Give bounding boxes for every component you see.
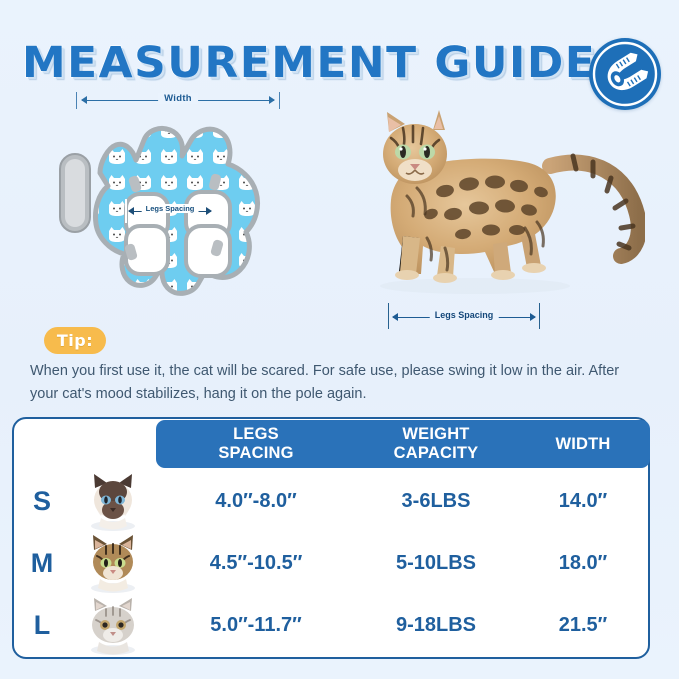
column-header-legs-spacing-line1: LEGS xyxy=(156,425,356,444)
page-title: MEASUREMENT GUIDE xyxy=(22,38,596,88)
legs-spacing-value: 4.5″-10.5″ xyxy=(156,552,356,575)
bengal-cat-photo xyxy=(345,96,645,311)
width-label: Width xyxy=(158,93,198,104)
tip-text: When you first use it, the cat will be s… xyxy=(30,360,630,406)
tabby-cat-head-thumbnail xyxy=(70,532,156,594)
width-arrow-right-icon xyxy=(269,96,275,104)
cat-legs-spacing-measure: Legs Spacing xyxy=(388,308,540,326)
siamese-cat-head-thumbnail xyxy=(70,470,156,532)
cat-legs-spacing-label: Legs Spacing xyxy=(430,310,499,320)
weight-capacity-value: 3-6LBS xyxy=(356,490,516,513)
width-measure-line: Width xyxy=(76,92,280,110)
size-label: M xyxy=(14,548,70,579)
width-cap-right xyxy=(279,92,280,109)
width-value: 18.0″ xyxy=(516,552,650,575)
wrap-legs-arrow-left-icon xyxy=(128,207,134,215)
column-header-width: WIDTH xyxy=(516,435,650,454)
width-value: 21.5″ xyxy=(516,614,650,637)
page-header: MEASUREMENT GUIDE xyxy=(0,18,679,90)
cat-legs-arrow-right-icon xyxy=(530,313,536,321)
wrap-legs-spacing-measure: Legs Spacing xyxy=(125,203,215,219)
tip-badge-label: Tip: xyxy=(57,331,93,350)
column-header-weight-capacity: WEIGHT CAPACITY xyxy=(356,425,516,463)
table-row: M 4.5″-10.5″ xyxy=(14,532,650,594)
weight-capacity-value: 5-10LBS xyxy=(356,552,516,575)
size-table-header: LEGS SPACING WEIGHT CAPACITY WIDTH xyxy=(156,420,650,468)
column-header-legs-spacing-line2: SPACING xyxy=(156,444,356,463)
table-row: L 5.0″-11.7″ xyxy=(14,594,650,656)
size-table-body: S 4.0″-8.0″ 3-6LBS 14.0″ M xyxy=(14,470,650,656)
width-value: 14.0″ xyxy=(516,490,650,513)
wrap-legs-arrow-right-icon xyxy=(206,207,212,215)
legs-spacing-value: 5.0″-11.7″ xyxy=(156,614,356,637)
column-header-weight-capacity-line2: CAPACITY xyxy=(356,444,516,463)
cat-legs-cap-left xyxy=(388,303,389,329)
size-label: S xyxy=(14,486,70,517)
wrap-legs-cap-right xyxy=(214,199,216,223)
silver-shorthair-cat-head-thumbnail xyxy=(70,594,156,656)
legs-spacing-value: 4.0″-8.0″ xyxy=(156,490,356,513)
width-arrow-left-icon xyxy=(81,96,87,104)
wrap-legs-cap-left xyxy=(125,199,127,223)
column-header-weight-capacity-line1: WEIGHT xyxy=(356,425,516,444)
wrap-legs-spacing-label: Legs Spacing xyxy=(142,204,199,213)
width-cap-left xyxy=(76,92,77,109)
cat-legs-arrow-left-icon xyxy=(392,313,398,321)
table-row: S 4.0″-8.0″ 3-6LBS 14.0″ xyxy=(14,470,650,532)
column-header-width-line1: WIDTH xyxy=(516,435,650,454)
cat-legs-cap-right xyxy=(539,303,540,329)
column-header-legs-spacing: LEGS SPACING xyxy=(156,425,356,463)
size-label: L xyxy=(14,610,70,641)
weight-capacity-value: 9-18LBS xyxy=(356,614,516,637)
tip-badge: Tip: xyxy=(44,327,106,354)
